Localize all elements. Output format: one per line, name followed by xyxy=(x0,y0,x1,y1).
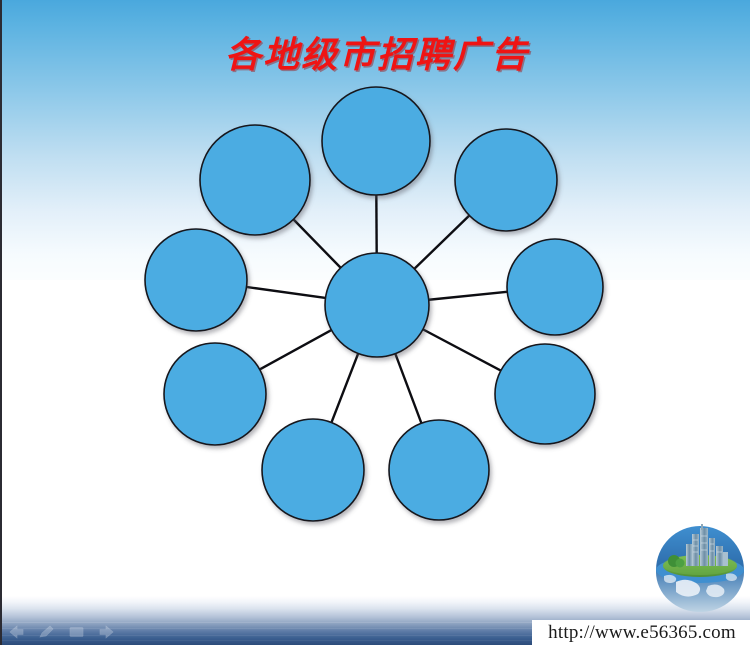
watermark-url-box: http://www.e56365.com xyxy=(532,620,750,645)
diagram-node-3[interactable] xyxy=(507,239,603,335)
connector-line-5 xyxy=(395,353,422,424)
watermark-url-text: http://www.e56365.com xyxy=(548,622,736,644)
pen-tool-icon[interactable] xyxy=(38,625,55,639)
menu-icon[interactable] xyxy=(68,625,85,639)
globe-city-logo-icon xyxy=(652,524,748,614)
diagram-node-8[interactable] xyxy=(145,229,247,331)
connector-line-7 xyxy=(259,330,332,370)
connector-line-4 xyxy=(422,329,502,371)
diagram-node-9[interactable] xyxy=(200,125,310,235)
diagram-center-node[interactable] xyxy=(325,253,429,357)
radial-diagram xyxy=(2,0,750,645)
connector-line-9 xyxy=(293,219,342,269)
connector-line-3 xyxy=(428,292,508,300)
diagram-node-1[interactable] xyxy=(322,87,430,195)
diagram-node-2[interactable] xyxy=(455,129,557,231)
globe-city-logo xyxy=(652,524,748,614)
diagram-nodes xyxy=(145,87,603,521)
diagram-node-6[interactable] xyxy=(262,419,364,521)
slideshow-navigation-bar[interactable] xyxy=(8,622,128,642)
diagram-node-4[interactable] xyxy=(495,344,595,444)
connector-line-8 xyxy=(246,287,327,298)
presentation-slide: 各地级市招聘广告 xyxy=(0,0,750,645)
diagram-node-5[interactable] xyxy=(389,420,489,520)
radial-diagram-canvas xyxy=(2,0,750,645)
connector-line-2 xyxy=(414,215,470,270)
next-slide-icon[interactable] xyxy=(98,625,115,639)
diagram-node-7[interactable] xyxy=(164,343,266,445)
connector-line-6 xyxy=(331,353,358,424)
previous-slide-icon[interactable] xyxy=(8,625,25,639)
